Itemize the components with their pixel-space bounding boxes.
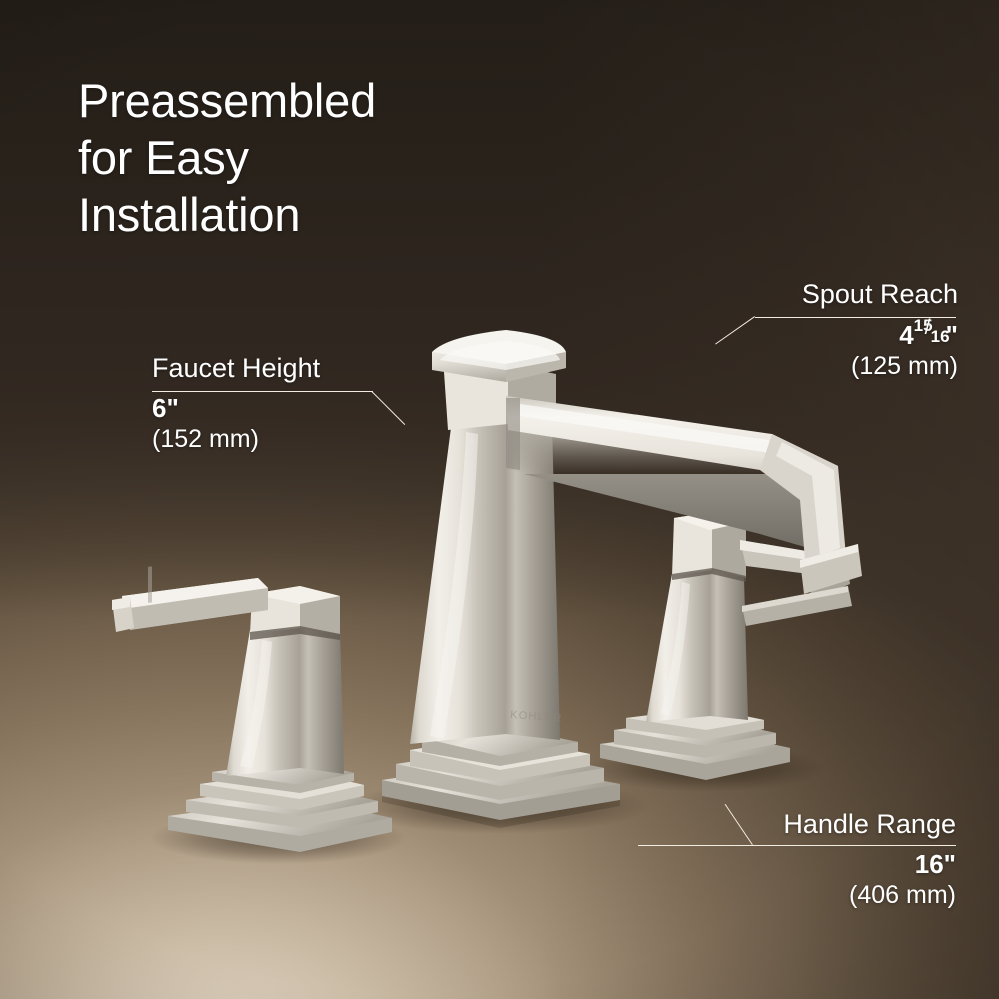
callout-handle-range-value: 16"	[640, 849, 956, 880]
spout-body: KOHLER	[382, 330, 620, 820]
callout-spout-reach-metric: (125 mm)	[700, 351, 958, 382]
headline-line-2: for Easy	[78, 129, 538, 186]
callout-spout-reach-label: Spout Reach	[700, 278, 958, 310]
callout-faucet-height-value: 6"	[152, 393, 320, 424]
callout-faucet-height: Faucet Height 6" (152 mm)	[152, 352, 320, 455]
callout-handle-range: Handle Range 16" (406 mm)	[640, 808, 956, 911]
page-title: Preassembled for Easy Installation	[78, 72, 538, 243]
spout-reach-fraction: 15/16	[914, 318, 946, 344]
right-handle	[600, 512, 840, 780]
callout-handle-range-metric: (406 mm)	[640, 880, 956, 911]
callout-spout-reach-value: 415/16"	[700, 318, 958, 351]
callout-spout-reach: Spout Reach 415/16" (125 mm)	[700, 278, 958, 382]
spout-reach-whole: 4	[899, 320, 913, 350]
headline-line-3: Installation	[78, 186, 538, 243]
callout-faucet-height-metric: (152 mm)	[152, 424, 320, 455]
left-handle	[112, 566, 392, 852]
product-infographic: KOHLER	[0, 0, 999, 999]
callout-handle-range-label: Handle Range	[640, 808, 956, 840]
headline-line-1: Preassembled	[78, 72, 538, 129]
callout-handle-range-rule	[638, 845, 956, 846]
callout-spout-reach-rule	[755, 317, 956, 318]
callout-faucet-height-label: Faucet Height	[152, 352, 320, 384]
spout-reach-denominator: 16	[931, 321, 950, 352]
callout-faucet-height-rule	[152, 391, 373, 392]
